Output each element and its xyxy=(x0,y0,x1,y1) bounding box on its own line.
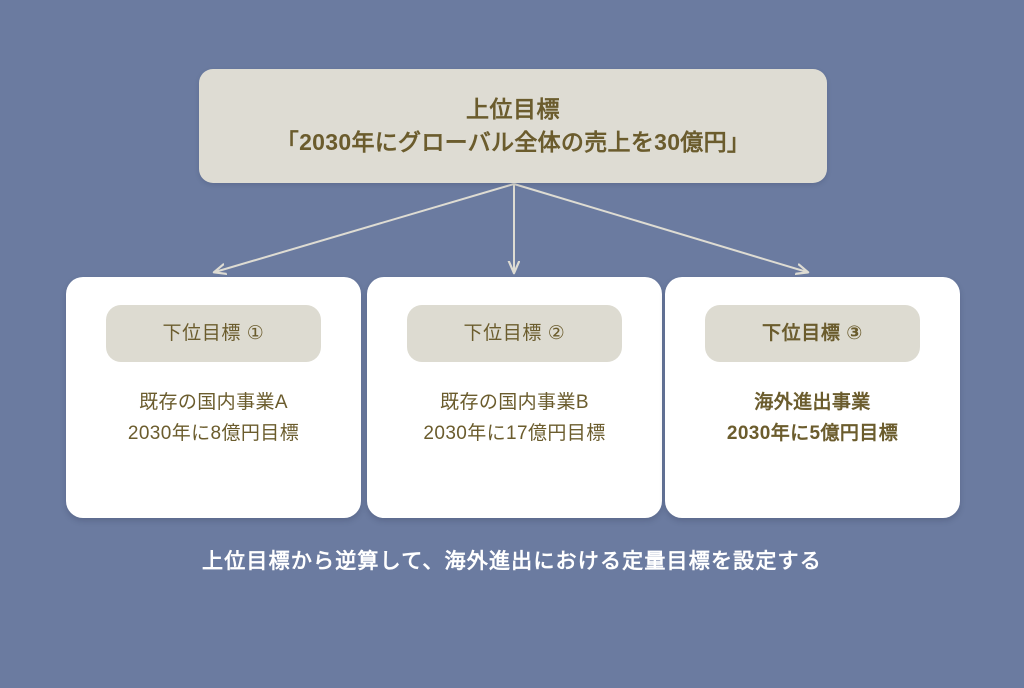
sub-goal-1-badge-label: 下位目標 ① xyxy=(163,324,265,343)
sub-goal-1-business: 既存の国内事業A xyxy=(128,388,299,419)
sub-goal-card-2: 下位目標 ② 既存の国内事業B 2030年に17億円目標 xyxy=(367,277,662,518)
sub-goal-card-1: 下位目標 ① 既存の国内事業A 2030年に8億円目標 xyxy=(66,277,361,518)
arrow-to-sub-goal-3 xyxy=(514,184,807,272)
sub-goal-2-badge-label: 下位目標 ② xyxy=(464,324,566,343)
sub-goal-3-badge-label: 下位目標 ③ xyxy=(762,324,863,343)
sub-goal-3-business: 海外進出事業 xyxy=(727,388,898,419)
sub-goal-1-body: 既存の国内事業A 2030年に8億円目標 xyxy=(128,388,299,450)
sub-goal-3-target: 2030年に5億円目標 xyxy=(727,419,898,450)
sub-goal-3-body: 海外進出事業 2030年に5億円目標 xyxy=(727,388,898,450)
diagram-caption: 上位目標から逆算して、海外進出における定量目標を設定する xyxy=(0,548,1024,575)
top-goal-statement: 「2030年にグローバル全体の売上を30億円」 xyxy=(276,126,750,159)
sub-goal-2-business: 既存の国内事業B xyxy=(423,388,605,419)
sub-goal-3-badge: 下位目標 ③ xyxy=(705,305,920,362)
sub-goal-1-target: 2030年に8億円目標 xyxy=(128,419,299,450)
sub-goal-2-body: 既存の国内事業B 2030年に17億円目標 xyxy=(423,388,605,450)
top-goal-title: 上位目標 xyxy=(466,93,560,126)
top-goal-box: 上位目標 「2030年にグローバル全体の売上を30億円」 xyxy=(199,69,827,183)
diagram-canvas: 上位目標 「2030年にグローバル全体の売上を30億円」 下位目標 ① 既存の国… xyxy=(0,0,1024,688)
sub-goal-2-badge: 下位目標 ② xyxy=(407,305,622,362)
sub-goal-card-3: 下位目標 ③ 海外進出事業 2030年に5億円目標 xyxy=(665,277,960,518)
arrow-to-sub-goal-1 xyxy=(215,184,514,272)
sub-goal-2-target: 2030年に17億円目標 xyxy=(423,419,605,450)
sub-goal-1-badge: 下位目標 ① xyxy=(106,305,321,362)
